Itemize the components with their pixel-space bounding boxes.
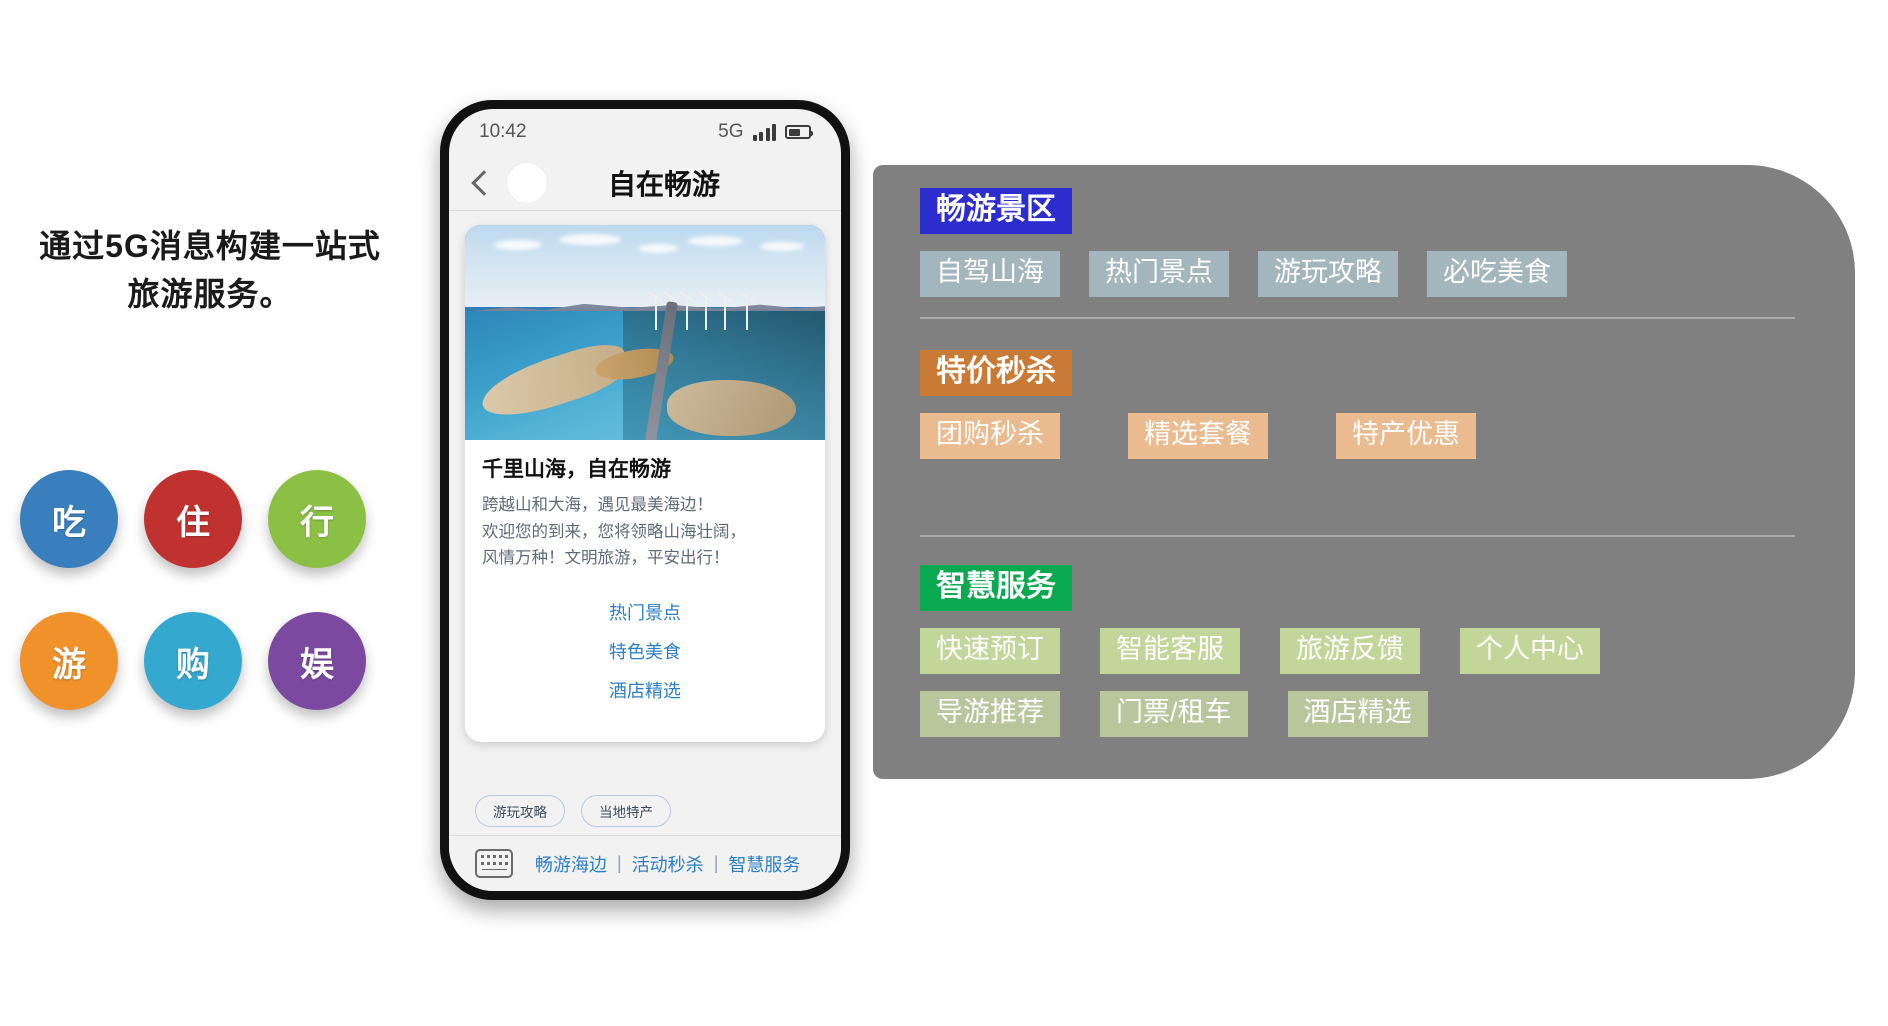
menu-item-travel-guide[interactable]: 游玩攻略 — [1258, 251, 1398, 297]
section-changyou-jingqu: 畅游景区 自驾山海 热门景点 游玩攻略 必吃美食 — [920, 188, 1815, 297]
menu-item-personal-center[interactable]: 个人中心 — [1460, 628, 1600, 674]
card-text-line: 欢迎您的到来，您将领略山海壮阔， — [482, 519, 808, 546]
section-header[interactable]: 畅游景区 — [920, 188, 1072, 234]
rich-card[interactable]: 千里山海，自在畅游 跨越山和大海，遇见最美海边！ 欢迎您的到来，您将领略山海壮阔… — [465, 225, 825, 742]
section-items-row2: 导游推荐 门票/租车 酒店精选 — [920, 691, 1815, 737]
service-circle-label: 吃 — [52, 495, 86, 544]
card-text: 跨越山和大海，遇见最美海边！ 欢迎您的到来，您将领略山海壮阔， 风情万种！文明旅… — [482, 492, 808, 572]
bottom-menu-item-smart-service[interactable]: 智慧服务 — [728, 851, 800, 877]
card-text-line: 风情万种！文明旅游，平安出行！ — [482, 545, 808, 572]
page-title: 通过5G消息构建一站式旅游服务。 — [30, 222, 390, 318]
service-circle-row-2: 游 购 娱 — [20, 612, 410, 710]
section-items: 自驾山海 热门景点 游玩攻略 必吃美食 — [920, 251, 1815, 297]
status-right-group: 5G — [718, 121, 811, 143]
coastal-aerial-photo — [465, 225, 825, 440]
service-circle-row-1: 吃 住 行 — [20, 470, 410, 568]
keyboard-icon[interactable] — [475, 849, 513, 878]
bottom-bar: 畅游海边 | 活动秒杀 | 智慧服务 — [449, 835, 841, 891]
service-circle-zhu[interactable]: 住 — [144, 470, 242, 568]
menu-panel: 畅游景区 自驾山海 热门景点 游玩攻略 必吃美食 特价秒杀 团购秒杀 精选套餐 … — [873, 165, 1855, 779]
service-circle-yu[interactable]: 娱 — [268, 612, 366, 710]
menu-item-must-eat[interactable]: 必吃美食 — [1427, 251, 1567, 297]
section-tejia-miaosha: 特价秒杀 团购秒杀 精选套餐 特产优惠 — [920, 350, 1815, 459]
bottom-menu: 畅游海边 | 活动秒杀 | 智慧服务 — [535, 851, 800, 877]
chip-local-specialty[interactable]: 当地特产 — [581, 795, 671, 827]
card-title: 千里山海，自在畅游 — [482, 453, 808, 483]
menu-item-specialty-discount[interactable]: 特产优惠 — [1336, 413, 1476, 459]
section-items-row1: 快速预订 智能客服 旅游反馈 个人中心 — [920, 628, 1815, 674]
service-circles: 吃 住 行 游 购 娱 — [20, 470, 410, 754]
bottom-menu-item-seaside[interactable]: 畅游海边 — [535, 851, 607, 877]
menu-item-self-drive[interactable]: 自驾山海 — [920, 251, 1060, 297]
service-circle-label: 娱 — [300, 637, 334, 686]
avatar — [506, 162, 548, 204]
card-body: 千里山海，自在畅游 跨越山和大海，遇见最美海边！ 欢迎您的到来，您将领略山海壮阔… — [465, 440, 825, 742]
menu-item-group-flashsale[interactable]: 团购秒杀 — [920, 413, 1060, 459]
menu-item-ticket-rentcar[interactable]: 门票/租车 — [1100, 691, 1248, 737]
nav-title: 自在畅游 — [561, 163, 767, 203]
menu-separator: | — [617, 853, 622, 874]
card-links: 热门景点 特色美食 酒店精选 — [482, 572, 808, 736]
chat-area: 千里山海，自在畅游 跨越山和大海，遇见最美海边！ 欢迎您的到来，您将领略山海壮阔… — [449, 211, 841, 891]
section-items: 团购秒杀 精选套餐 特产优惠 — [920, 413, 1815, 459]
section-divider — [920, 535, 1795, 537]
status-time: 10:42 — [479, 121, 527, 143]
section-divider — [920, 317, 1795, 319]
menu-item-travel-feedback[interactable]: 旅游反馈 — [1280, 628, 1420, 674]
section-header[interactable]: 特价秒杀 — [920, 350, 1072, 396]
card-link-hotels[interactable]: 酒店精选 — [482, 672, 808, 711]
service-circle-gou[interactable]: 购 — [144, 612, 242, 710]
phone-screen: 10:42 5G 自在畅游 — [449, 109, 841, 891]
service-circle-chi[interactable]: 吃 — [20, 470, 118, 568]
bottom-menu-item-flashsale[interactable]: 活动秒杀 — [632, 851, 704, 877]
service-circle-label: 游 — [52, 637, 86, 686]
service-circle-label: 住 — [176, 495, 210, 544]
service-circle-you[interactable]: 游 — [20, 612, 118, 710]
back-chevron-icon[interactable] — [471, 170, 496, 195]
card-text-line: 跨越山和大海，遇见最美海边！ — [482, 492, 808, 519]
service-circle-xing[interactable]: 行 — [268, 470, 366, 568]
menu-item-guide-recommend[interactable]: 导游推荐 — [920, 691, 1060, 737]
suggestion-chips: 游玩攻略 当地特产 — [449, 795, 841, 827]
nav-bar: 自在畅游 — [449, 155, 841, 211]
card-link-hot-spots[interactable]: 热门景点 — [482, 594, 808, 633]
menu-item-hot-spots[interactable]: 热门景点 — [1089, 251, 1229, 297]
section-zhihui-fuwu: 智慧服务 快速预订 智能客服 旅游反馈 个人中心 导游推荐 门票/租车 酒店精选 — [920, 565, 1815, 737]
section-header[interactable]: 智慧服务 — [920, 565, 1072, 611]
status-bar: 10:42 5G — [449, 109, 841, 155]
network-label: 5G — [718, 121, 743, 143]
chip-travel-guide[interactable]: 游玩攻略 — [475, 795, 565, 827]
slide-canvas: 通过5G消息构建一站式旅游服务。 吃 住 行 游 购 娱 — [0, 0, 1888, 1026]
menu-item-quick-booking[interactable]: 快速预订 — [920, 628, 1060, 674]
menu-item-smart-support[interactable]: 智能客服 — [1100, 628, 1240, 674]
service-circle-label: 行 — [300, 495, 334, 544]
phone-mockup: 10:42 5G 自在畅游 — [440, 100, 850, 900]
menu-item-hotel-selection[interactable]: 酒店精选 — [1288, 691, 1428, 737]
menu-separator: | — [714, 853, 719, 874]
service-circle-label: 购 — [176, 637, 210, 686]
menu-item-set-meal[interactable]: 精选套餐 — [1128, 413, 1268, 459]
card-link-local-food[interactable]: 特色美食 — [482, 633, 808, 672]
signal-bars-icon — [753, 123, 777, 141]
battery-icon — [785, 125, 811, 139]
